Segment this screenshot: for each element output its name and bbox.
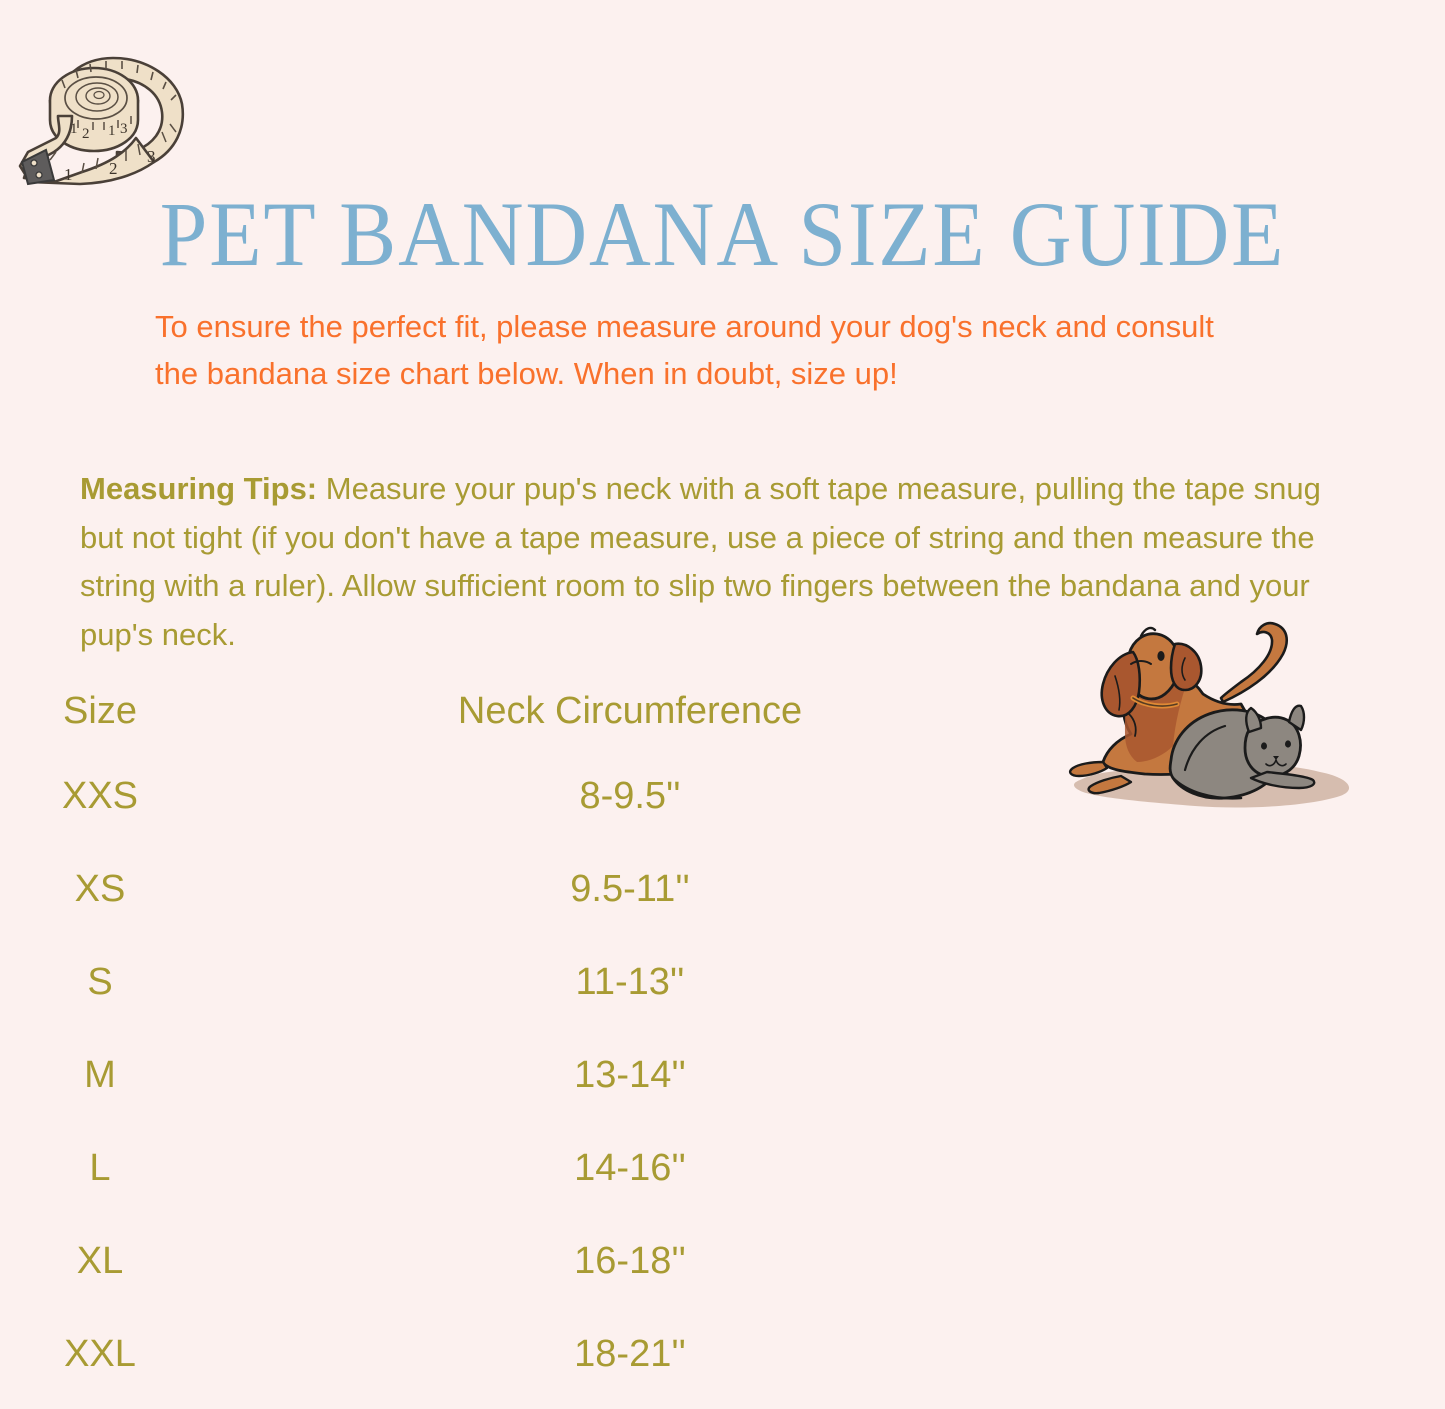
- size-guide-page: 1 2 1 3 1 2 3: [0, 0, 1445, 1409]
- subtitle-text: To ensure the perfect fit, please measur…: [155, 303, 1255, 397]
- cell-neck: 16-18'': [200, 1215, 1060, 1308]
- dog-and-cat-illustration: [1045, 610, 1380, 825]
- tape-measure-icon: 1 2 1 3 1 2 3: [14, 32, 194, 187]
- svg-text:2: 2: [82, 126, 90, 142]
- page-title: PET BANDANA SIZE GUIDE: [51, 186, 1395, 283]
- cell-neck: 18-21'': [200, 1308, 1060, 1401]
- measuring-tips-label: Measuring Tips:: [80, 471, 317, 506]
- cell-size: XL: [0, 1215, 200, 1308]
- cell-neck: 13-14'': [200, 1029, 1060, 1122]
- table-row: S 11-13'': [0, 936, 1060, 1029]
- cell-size: M: [0, 1029, 200, 1122]
- cell-neck: 11-13'': [200, 936, 1060, 1029]
- size-chart-table: Size Neck Circumference XXS 8-9.5'' XS 9…: [0, 672, 1060, 1401]
- svg-text:1: 1: [64, 165, 73, 184]
- cell-size: XS: [0, 843, 200, 936]
- table-row: M 13-14'': [0, 1029, 1060, 1122]
- cell-size: L: [0, 1122, 200, 1215]
- svg-text:2: 2: [109, 159, 118, 178]
- svg-text:3: 3: [147, 147, 156, 166]
- table-row: XXL 18-21'': [0, 1308, 1060, 1401]
- table-row: XXS 8-9.5'': [0, 750, 1060, 843]
- table-row: XL 16-18'': [0, 1215, 1060, 1308]
- column-header-size: Size: [0, 672, 200, 750]
- svg-text:1: 1: [108, 123, 116, 139]
- column-header-neck-circumference: Neck Circumference: [200, 672, 1060, 750]
- cell-size: XXL: [0, 1308, 200, 1401]
- cell-neck: 9.5-11'': [200, 843, 1060, 936]
- svg-text:3: 3: [120, 121, 128, 137]
- table-row: L 14-16'': [0, 1122, 1060, 1215]
- table-header-row: Size Neck Circumference: [0, 672, 1060, 750]
- cell-neck: 14-16'': [200, 1122, 1060, 1215]
- cell-size: XXS: [0, 750, 200, 843]
- cell-size: S: [0, 936, 200, 1029]
- table-row: XS 9.5-11'': [0, 843, 1060, 936]
- cell-neck: 8-9.5'': [200, 750, 1060, 843]
